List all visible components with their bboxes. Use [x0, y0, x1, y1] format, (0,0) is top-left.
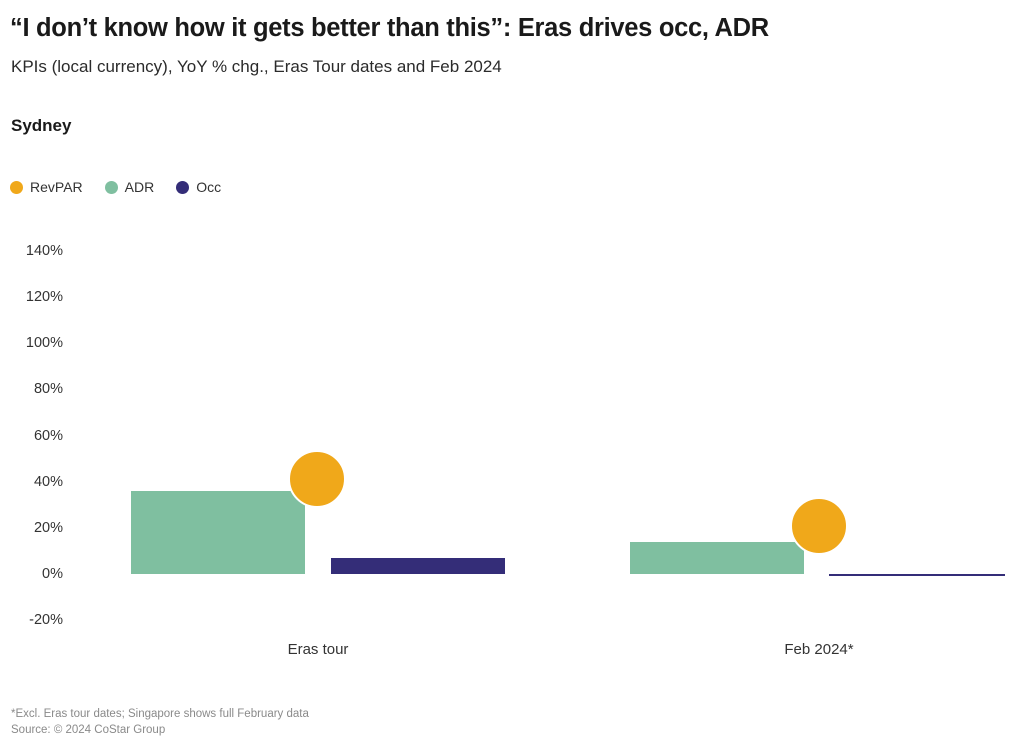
- bar-occ-0: [331, 558, 505, 574]
- y-axis-tick-label: 100%: [5, 335, 63, 351]
- y-axis-tick-label: 40%: [5, 474, 63, 490]
- footnotes: *Excl. Eras tour dates; Singapore shows …: [11, 707, 309, 739]
- y-axis-tick-label: 20%: [5, 520, 63, 536]
- chart-plot-area: 140%120%100%80%60%40%20%0%-20%Eras tourF…: [0, 0, 1024, 748]
- y-axis-tick-label: 140%: [5, 243, 63, 259]
- y-axis-tick-label: 80%: [5, 381, 63, 397]
- bar-adr-1: [630, 542, 804, 574]
- y-axis-tick-label: 60%: [5, 428, 63, 444]
- footnote-note: *Excl. Eras tour dates; Singapore shows …: [11, 707, 309, 723]
- footnote-source: Source: © 2024 CoStar Group: [11, 723, 309, 739]
- y-axis-tick-label: 120%: [5, 289, 63, 305]
- bubble-revpar-0: [288, 450, 346, 508]
- x-axis-category-label: Eras tour: [288, 641, 349, 658]
- bubble-revpar-1: [790, 497, 848, 555]
- x-axis-category-label: Feb 2024*: [784, 641, 853, 658]
- bar-occ-1: [829, 574, 1005, 576]
- bar-adr-0: [131, 491, 305, 574]
- y-axis-tick-label: -20%: [5, 612, 63, 628]
- y-axis-tick-label: 0%: [5, 566, 63, 582]
